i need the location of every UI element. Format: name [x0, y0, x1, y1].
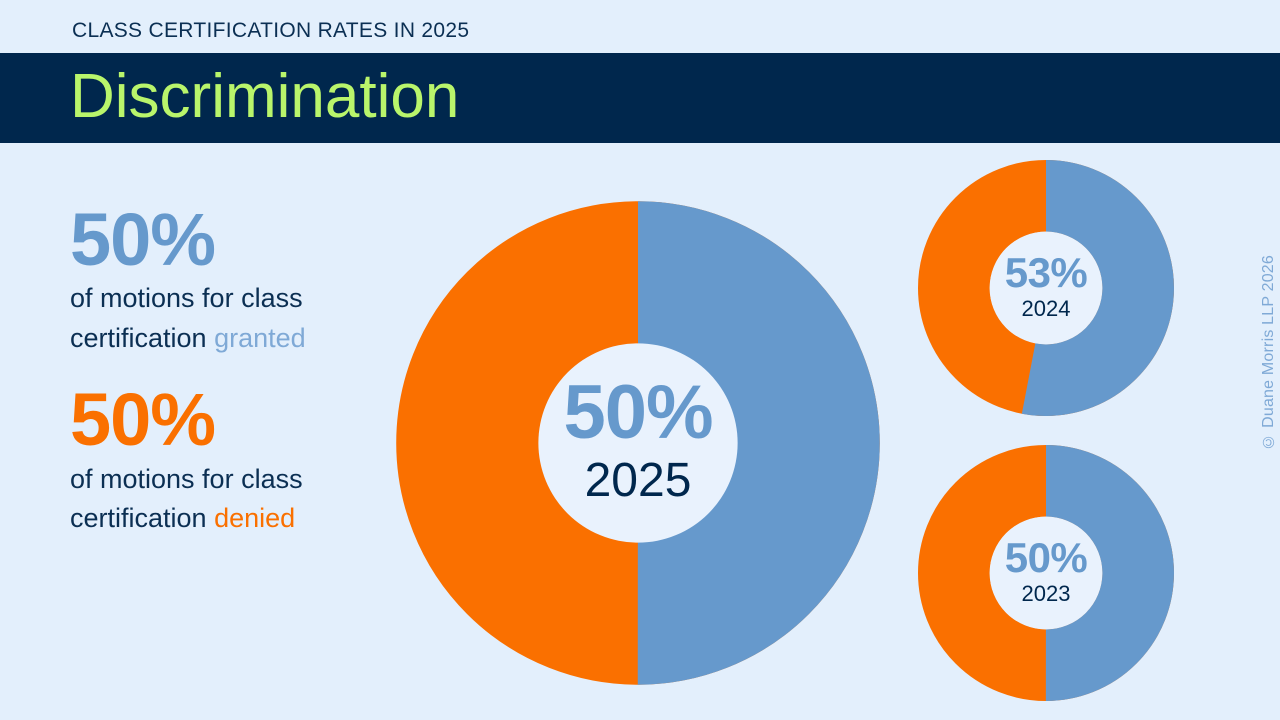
donut-chart-2025: 50% 2025 — [395, 200, 881, 686]
donut-svg-2023 — [918, 445, 1174, 701]
stat-emphasis-granted: granted — [214, 323, 306, 353]
title-band: Discrimination — [0, 53, 1280, 143]
stat-emphasis-denied: denied — [214, 503, 295, 533]
stat-desc-line2-granted: certification — [70, 323, 214, 353]
stat-desc-line2-denied: certification — [70, 503, 214, 533]
stats-panel: 50% of motions for class certification g… — [70, 205, 400, 539]
stat-value-denied: 50% — [70, 385, 400, 455]
stat-value-granted: 50% — [70, 205, 400, 275]
donut-hole-2023 — [990, 517, 1103, 630]
stat-block-denied: 50% of motions for class certification d… — [70, 385, 400, 539]
copyright-notice: © Duane Morris LLP 2026 — [1260, 255, 1278, 450]
stat-desc-line1-denied: of motions for class — [70, 464, 303, 494]
donut-hole-2024 — [990, 232, 1103, 345]
stat-desc-line1-granted: of motions for class — [70, 283, 303, 313]
slide-canvas: CLASS CERTIFICATION RATES IN 2025 Discri… — [0, 0, 1280, 720]
donut-svg-2024 — [918, 160, 1174, 416]
donut-hole-2025 — [538, 343, 737, 542]
stat-desc-granted: of motions for class certification grant… — [70, 279, 400, 359]
donut-svg-2025 — [395, 200, 881, 686]
stat-block-granted: 50% of motions for class certification g… — [70, 205, 400, 359]
page-kicker: CLASS CERTIFICATION RATES IN 2025 — [72, 19, 469, 43]
page-title: Discrimination — [70, 66, 459, 128]
donut-chart-2023: 50% 2023 — [918, 445, 1174, 701]
donut-chart-2024: 53% 2024 — [918, 160, 1174, 416]
stat-desc-denied: of motions for class certification denie… — [70, 460, 400, 540]
